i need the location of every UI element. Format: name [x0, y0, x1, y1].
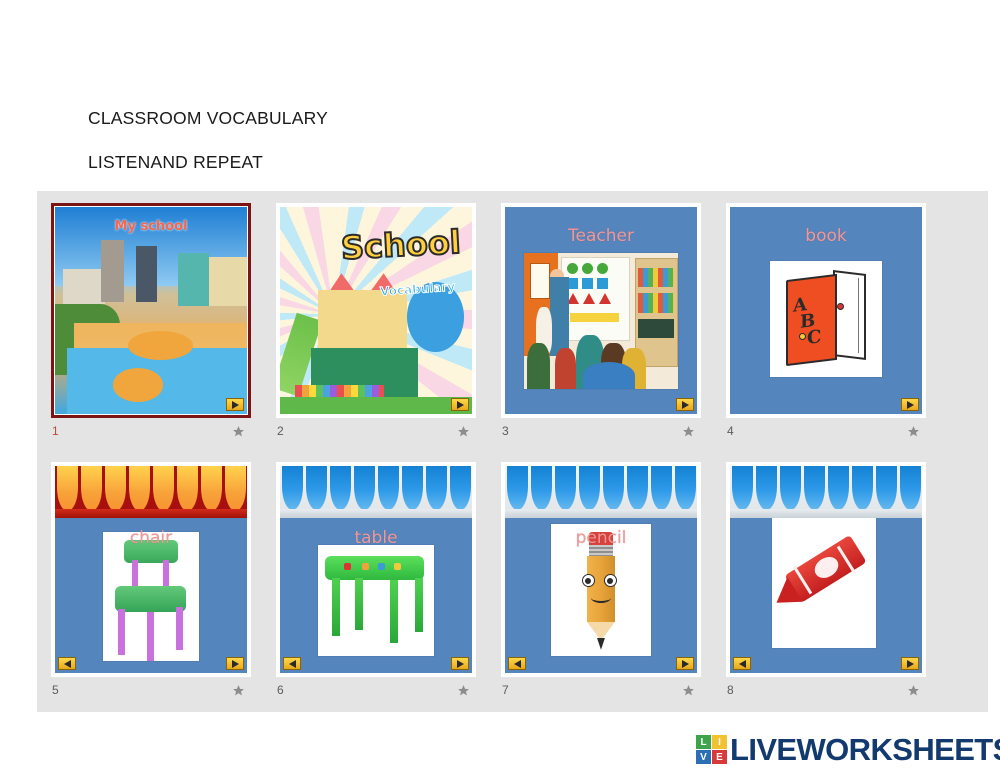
blue-awning	[505, 466, 697, 518]
star-icon[interactable]	[457, 425, 470, 438]
card-footer-5: 5	[51, 680, 251, 704]
card-artwork-3: Teacher	[505, 207, 697, 414]
card-footer-6: 6	[276, 680, 476, 704]
blue-awning	[730, 466, 922, 518]
table-leg	[415, 578, 423, 632]
red-awning	[55, 466, 247, 518]
card-artwork-7: pencil	[505, 466, 697, 673]
next-arrow-button-1[interactable]	[226, 398, 244, 411]
live-tiles-icon: L I V E	[696, 735, 727, 764]
pencil-tip	[597, 638, 605, 650]
card-number-4: 4	[727, 424, 734, 438]
chair-leg	[147, 612, 154, 661]
table-leg	[390, 580, 398, 643]
door-window	[530, 263, 550, 299]
prev-arrow-button-6[interactable]	[283, 657, 301, 670]
logo-tile-i: I	[712, 735, 727, 749]
logo-tile-v: V	[696, 750, 711, 764]
court-circle	[128, 331, 193, 360]
star-icon[interactable]	[907, 425, 920, 438]
school-courtyard-photo	[55, 207, 247, 414]
card-footer-7: 7	[501, 680, 701, 704]
chair-leg	[176, 607, 183, 651]
next-arrow-button-7[interactable]	[676, 657, 694, 670]
vocabulary-card-3[interactable]: Teacher	[501, 203, 701, 418]
table-object	[394, 563, 401, 570]
card-word-label-1: My school	[55, 219, 247, 234]
card-artwork-8	[730, 466, 922, 673]
blue-awning	[280, 466, 472, 518]
card-cell-8: 8	[726, 462, 954, 704]
logo-tile-e: E	[712, 750, 727, 764]
card-number-8: 8	[727, 683, 734, 697]
chair-post	[163, 560, 169, 588]
star-icon[interactable]	[457, 684, 470, 697]
student-figure	[583, 362, 635, 389]
vocabulary-card-6[interactable]: table	[276, 462, 476, 677]
star-icon[interactable]	[232, 684, 245, 697]
table-object	[362, 563, 369, 570]
chair-post	[132, 560, 138, 588]
next-arrow-button-6[interactable]	[451, 657, 469, 670]
ladybug-icon	[837, 303, 844, 310]
card-word-label-2: School	[341, 223, 463, 267]
green-chair-illustration	[103, 532, 199, 660]
vocabulary-card-2[interactable]: School Vocabulary	[276, 203, 476, 418]
logo-tile-l: L	[696, 735, 711, 749]
green-table-illustration	[318, 545, 433, 657]
table-leg	[355, 578, 363, 629]
card-number-2: 2	[277, 424, 284, 438]
card-cell-7: pencil	[501, 462, 729, 704]
card-word-label-6: table	[280, 528, 472, 548]
classroom-teacher-illustration	[524, 253, 678, 390]
card-number-6: 6	[277, 683, 284, 697]
card-cell-6: table	[276, 462, 504, 704]
card-footer-8: 8	[726, 680, 926, 704]
page-subtitle: LISTENAND REPEAT	[88, 152, 328, 173]
prev-arrow-button-5[interactable]	[58, 657, 76, 670]
building	[178, 253, 209, 307]
table-object	[378, 563, 385, 570]
card-artwork-2: School Vocabulary	[280, 207, 472, 414]
chair-seat	[115, 586, 186, 612]
abc-letters: ABC	[793, 294, 821, 349]
logo-wordmark: LIVEWORKSHEETS	[730, 734, 1000, 765]
card-cell-3: Teacher	[501, 203, 729, 445]
vocabulary-card-5[interactable]: chair	[51, 462, 251, 677]
next-arrow-button-3[interactable]	[676, 398, 694, 411]
vocabulary-card-grid: My school 1	[37, 191, 988, 712]
card-cell-1: My school 1	[51, 203, 279, 445]
table-object	[344, 563, 351, 570]
star-icon[interactable]	[682, 425, 695, 438]
card-artwork-6: table	[280, 466, 472, 673]
card-number-1: 1	[52, 424, 59, 438]
star-icon[interactable]	[907, 684, 920, 697]
card-footer-1: 1	[51, 421, 251, 445]
school-house	[318, 290, 406, 352]
card-word-label-5: chair	[55, 528, 247, 548]
student-figure	[555, 348, 577, 389]
card-number-7: 7	[502, 683, 509, 697]
star-icon[interactable]	[232, 425, 245, 438]
card-footer-3: 3	[501, 421, 701, 445]
bee-icon	[799, 333, 806, 340]
pencil-body	[587, 556, 615, 622]
vocabulary-card-1[interactable]: My school	[51, 203, 251, 418]
worksheet-headings: CLASSROOM VOCABULARY LISTENAND REPEAT	[88, 108, 328, 173]
book-pages	[833, 270, 866, 360]
teacher-figure	[550, 277, 568, 356]
card-cell-4: book ABC 4	[726, 203, 954, 445]
court-circle	[113, 368, 163, 401]
card-number-5: 5	[52, 683, 59, 697]
prev-arrow-button-8[interactable]	[733, 657, 751, 670]
red-crayon-illustration	[772, 503, 876, 648]
star-icon[interactable]	[682, 684, 695, 697]
grass-strip	[280, 397, 472, 414]
student-figure	[527, 343, 550, 389]
card-artwork-5: chair	[55, 466, 247, 673]
card-cell-2: School Vocabulary 2	[276, 203, 504, 445]
building	[136, 246, 157, 302]
pencil-wood	[587, 622, 615, 641]
card-word-label-7: pencil	[505, 528, 697, 548]
worksheet-page: CLASSROOM VOCABULARY LISTENAND REPEAT	[0, 0, 1000, 772]
table-top	[325, 556, 424, 581]
building	[101, 240, 124, 302]
card-word-label-4: book	[730, 226, 922, 246]
chair-leg	[118, 609, 125, 655]
next-arrow-button-4[interactable]	[901, 398, 919, 411]
abc-book-illustration: ABC	[770, 261, 881, 377]
vocabulary-card-4[interactable]: book ABC	[726, 203, 926, 418]
building	[209, 257, 247, 307]
building	[63, 269, 105, 304]
card-artwork-4: book ABC	[730, 207, 922, 414]
next-arrow-button-5[interactable]	[226, 657, 244, 670]
card-artwork-1: My school	[55, 207, 247, 414]
card-number-3: 3	[502, 424, 509, 438]
table-leg	[332, 578, 340, 636]
liveworksheets-logo[interactable]: L I V E LIVEWORKSHEETS	[696, 734, 1000, 765]
page-title: CLASSROOM VOCABULARY	[88, 108, 328, 129]
card-word-label-3: Teacher	[505, 226, 697, 246]
card-footer-2: 2	[276, 421, 476, 445]
vocabulary-card-8[interactable]	[726, 462, 926, 677]
worksheet-content-band: My school 1	[37, 191, 988, 712]
vocabulary-card-7[interactable]: pencil	[501, 462, 701, 677]
prev-arrow-button-7[interactable]	[508, 657, 526, 670]
card-cell-5: chair	[51, 462, 279, 704]
next-arrow-button-8[interactable]	[901, 657, 919, 670]
yellow-strip	[570, 313, 619, 323]
shape-chart	[567, 263, 622, 308]
next-arrow-button-2[interactable]	[451, 398, 469, 411]
pencil-eye	[604, 574, 617, 587]
card-footer-4: 4	[726, 421, 926, 445]
